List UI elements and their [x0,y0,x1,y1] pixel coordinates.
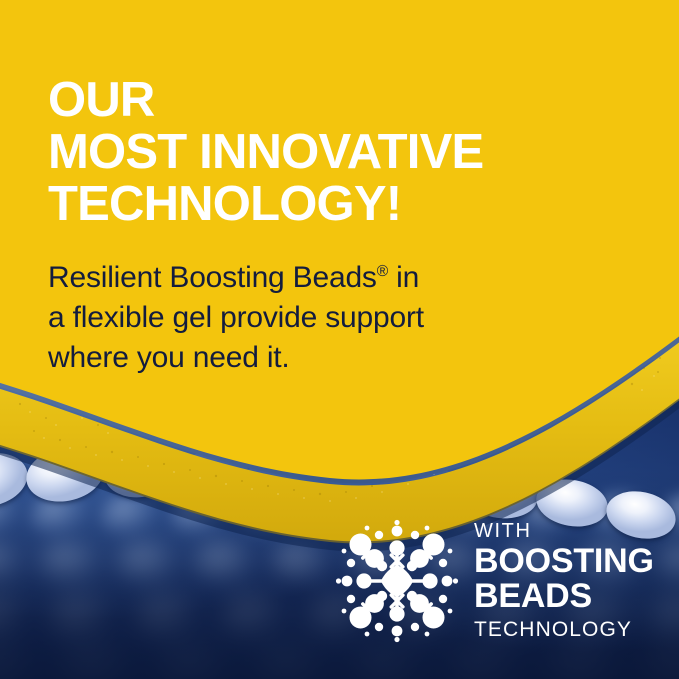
subcopy-line1-tail: in [388,261,419,294]
subcopy: Resilient Boosting Beads® in a flexible … [48,258,424,378]
badge-text-block: WITH BOOSTING BEADS TECHNOLOGY [474,520,654,642]
headline-line-3: TECHNOLOGY! [48,179,483,231]
boosting-bead [378,460,466,517]
registered-trademark-icon: ® [377,263,388,280]
boosting-bead [100,441,181,503]
badge-with-label: WITH [474,520,654,542]
sharp-bead-row [0,440,679,520]
subcopy-line-3: where you need it. [48,338,424,378]
boosting-bead [325,465,385,511]
badge-technology-label: TECHNOLOGY [474,617,654,642]
boosting-bead [241,454,330,510]
promo-banner: OUR MOST INNOVATIVE TECHNOLOGY! Resilien… [0,0,679,679]
boosting-bead [176,446,251,501]
badge-brand-line-1: BOOSTING [474,544,654,579]
subcopy-line-2: a flexible gel provide support [48,298,424,338]
boosting-bead [459,465,541,523]
boosting-beads-cluster-icon [334,518,460,644]
subcopy-line-1: Resilient Boosting Beads® in [48,258,424,298]
headline-line-1: OUR [48,75,483,127]
badge-brand-line-2: BEADS [474,579,654,614]
headline-line-2: MOST INNOVATIVE [48,127,483,179]
subcopy-brand-text: Resilient Boosting Beads [48,261,377,294]
boosting-bead [22,441,109,508]
headline: OUR MOST INNOVATIVE TECHNOLOGY! [48,75,483,231]
boosting-beads-badge: WITH BOOSTING BEADS TECHNOLOGY [334,518,654,644]
